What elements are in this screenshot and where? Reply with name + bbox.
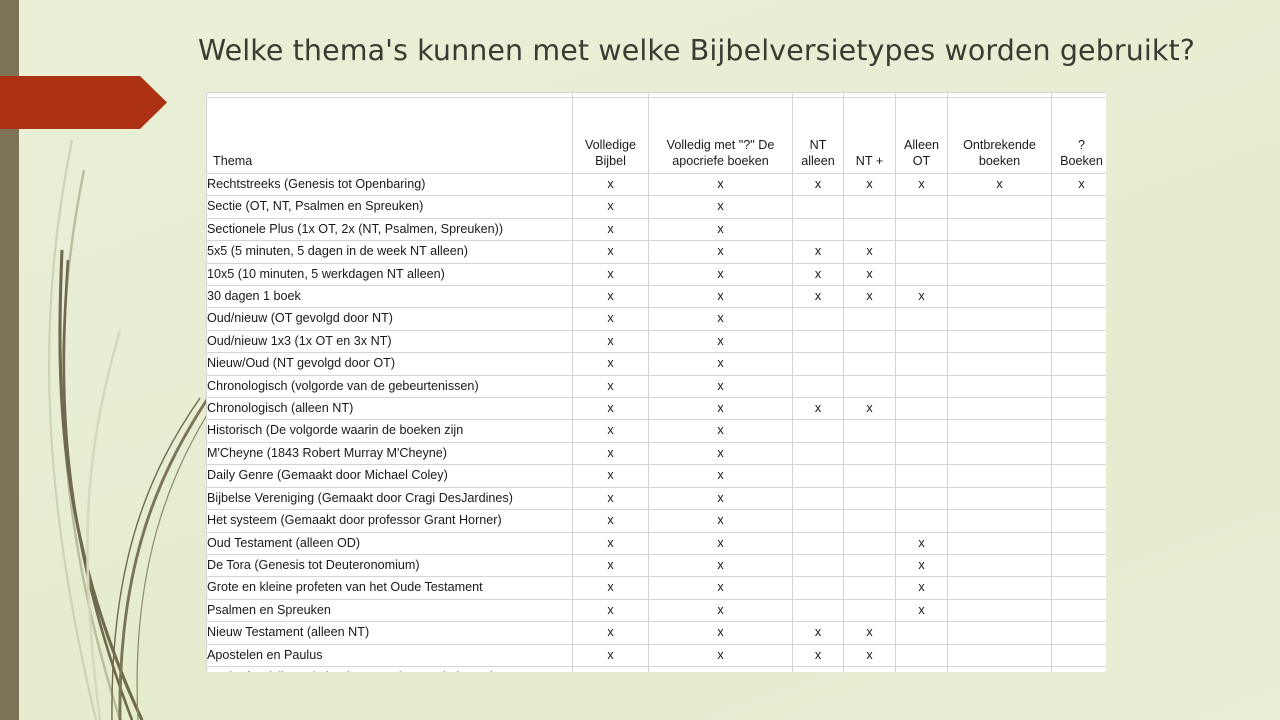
mark-cell-checked[interactable]: x <box>573 554 649 576</box>
mark-cell-checked[interactable]: x <box>793 286 844 308</box>
mark-cell-empty[interactable] <box>948 353 1052 375</box>
table-row[interactable]: Oud Testament (alleen OD)xxx <box>207 532 1107 554</box>
table-header-row: ThemaVolledigeBijbelVolledig met "?" Dea… <box>207 98 1107 174</box>
table-row[interactable]: 5x5 (5 minuten, 5 dagen in de week NT al… <box>207 241 1107 263</box>
mark-cell-empty[interactable] <box>948 263 1052 285</box>
mark-cell-empty[interactable] <box>1052 375 1107 397</box>
mark-cell-checked[interactable]: x <box>649 308 793 330</box>
table-row[interactable]: Daily Genre (Gemaakt door Michael Coley)… <box>207 465 1107 487</box>
mark-cell-checked[interactable]: x <box>573 599 649 621</box>
red-arrow-banner <box>0 76 167 129</box>
mark-cell-empty[interactable] <box>1052 554 1107 576</box>
mark-cell-checked[interactable]: x <box>573 353 649 375</box>
mark-cell-checked[interactable]: x <box>896 532 948 554</box>
mark-cell-empty[interactable] <box>896 622 948 644</box>
mark-cell-checked[interactable]: x <box>793 644 844 666</box>
mark-cell-checked[interactable]: x <box>649 510 793 532</box>
mark-cell-checked[interactable]: x <box>649 644 793 666</box>
table-row[interactable]: Chronologisch (alleen NT)xxxx <box>207 398 1107 420</box>
mark-cell-empty[interactable] <box>844 510 896 532</box>
table-row[interactable]: Apokryfen (alleen de boeken van de tweed… <box>207 666 1107 672</box>
table-row[interactable]: Apostelen en Paulusxxxx <box>207 644 1107 666</box>
mark-cell-empty[interactable] <box>948 599 1052 621</box>
theme-cell[interactable]: Apokryfen (alleen de boeken van de tweed… <box>207 666 573 672</box>
mark-cell-empty[interactable] <box>896 308 948 330</box>
swoosh-line-1 <box>49 140 96 720</box>
mark-cell-checked[interactable]: x <box>573 263 649 285</box>
mark-cell-checked[interactable]: x <box>793 622 844 644</box>
column-header-line: alleen <box>793 154 843 170</box>
mark-cell-empty[interactable] <box>793 554 844 576</box>
arrow-polygon <box>0 76 167 129</box>
column-header-4[interactable]: NT + <box>844 98 896 174</box>
mark-cell-checked[interactable]: x <box>844 174 896 196</box>
mark-cell-checked[interactable]: x <box>573 420 649 442</box>
slide-canvas: Welke thema's kunnen met welke Bijbelver… <box>0 0 1280 720</box>
mark-cell-checked[interactable]: x <box>793 263 844 285</box>
column-header-7[interactable]: ?Boeken <box>1052 98 1107 174</box>
theme-cell[interactable]: De Tora (Genesis tot Deuteronomium) <box>207 554 573 576</box>
mark-cell-checked[interactable]: x <box>649 263 793 285</box>
mark-cell-empty[interactable] <box>1052 532 1107 554</box>
mark-cell-empty[interactable] <box>844 420 896 442</box>
mark-cell-empty[interactable] <box>948 622 1052 644</box>
column-header-line: Bijbel <box>573 154 648 170</box>
mark-cell-checked[interactable]: x <box>573 218 649 240</box>
mark-cell-empty[interactable] <box>793 465 844 487</box>
mark-cell-empty[interactable] <box>1052 263 1107 285</box>
mark-cell-empty[interactable] <box>896 263 948 285</box>
column-header-5[interactable]: AlleenOT <box>896 98 948 174</box>
mark-cell-empty[interactable] <box>1052 442 1107 464</box>
mark-cell-empty[interactable] <box>1052 644 1107 666</box>
mark-cell-empty[interactable] <box>844 308 896 330</box>
table-row[interactable]: M'Cheyne (1843 Robert Murray M'Cheyne)xx <box>207 442 1107 464</box>
mark-cell-checked[interactable]: x <box>649 420 793 442</box>
mark-cell-empty[interactable] <box>1052 308 1107 330</box>
mark-cell-empty[interactable] <box>896 398 948 420</box>
mark-cell-empty[interactable] <box>1052 196 1107 218</box>
column-header-thema[interactable]: Thema <box>207 98 573 174</box>
mark-cell-checked[interactable]: x <box>573 196 649 218</box>
mark-cell-empty[interactable] <box>1052 353 1107 375</box>
mark-cell-checked[interactable]: x <box>649 196 793 218</box>
mark-cell-checked[interactable]: x <box>573 375 649 397</box>
mark-cell-empty[interactable] <box>1052 330 1107 352</box>
mark-cell-empty[interactable] <box>844 375 896 397</box>
mark-cell-checked[interactable]: x <box>649 353 793 375</box>
mark-cell-empty[interactable] <box>793 487 844 509</box>
swoosh-line-6 <box>112 398 200 720</box>
mark-cell-empty[interactable] <box>844 599 896 621</box>
mark-cell-empty[interactable] <box>896 218 948 240</box>
mark-cell-checked[interactable]: x <box>793 174 844 196</box>
mark-cell-empty[interactable] <box>896 510 948 532</box>
column-header-line: Ontbrekende <box>948 138 1051 154</box>
theme-cell[interactable]: Apostelen en Paulus <box>207 644 573 666</box>
mark-cell-empty[interactable] <box>844 666 896 672</box>
column-header-6[interactable]: Ontbrekendeboeken <box>948 98 1052 174</box>
mark-cell-empty[interactable] <box>896 644 948 666</box>
theme-matrix-table-container[interactable]: ThemaVolledigeBijbelVolledig met "?" Dea… <box>206 92 1106 672</box>
mark-cell-empty[interactable] <box>1052 286 1107 308</box>
mark-cell-checked[interactable]: x <box>896 174 948 196</box>
mark-cell-empty[interactable] <box>1052 398 1107 420</box>
table-row[interactable]: 10x5 (10 minuten, 5 werkdagen NT alleen)… <box>207 263 1107 285</box>
column-header-3[interactable]: NTalleen <box>793 98 844 174</box>
mark-cell-checked[interactable]: x <box>844 286 896 308</box>
mark-cell-empty[interactable] <box>948 465 1052 487</box>
table-row[interactable]: Het systeem (Gemaakt door professor Gran… <box>207 510 1107 532</box>
theme-cell[interactable]: Nieuw/Oud (NT gevolgd door OT) <box>207 353 573 375</box>
column-header-line: Volledige <box>573 138 648 154</box>
mark-cell-checked[interactable]: x <box>649 532 793 554</box>
swoosh-line-7 <box>120 392 212 720</box>
mark-cell-empty[interactable] <box>948 308 1052 330</box>
mark-cell-empty[interactable] <box>1052 510 1107 532</box>
table-row[interactable]: Oud/nieuw 1x3 (1x OT en 3x NT)xx <box>207 330 1107 352</box>
theme-cell[interactable]: Rechtstreeks (Genesis tot Openbaring) <box>207 174 573 196</box>
table-row[interactable]: Psalmen en Spreukenxxx <box>207 599 1107 621</box>
mark-cell-empty[interactable] <box>1052 218 1107 240</box>
mark-cell-empty[interactable] <box>948 644 1052 666</box>
theme-cell[interactable]: 5x5 (5 minuten, 5 dagen in de week NT al… <box>207 241 573 263</box>
mark-cell-checked[interactable]: x <box>844 398 896 420</box>
mark-cell-empty[interactable] <box>793 599 844 621</box>
mark-cell-checked[interactable]: x <box>793 241 844 263</box>
page-title: Welke thema's kunnen met welke Bijbelver… <box>198 34 1208 67</box>
mark-cell-empty[interactable] <box>1052 487 1107 509</box>
mark-cell-checked[interactable]: x <box>649 375 793 397</box>
mark-cell-empty[interactable] <box>948 218 1052 240</box>
mark-cell-empty[interactable] <box>948 420 1052 442</box>
mark-cell-checked[interactable]: x <box>649 577 793 599</box>
mark-cell-checked[interactable]: x <box>573 330 649 352</box>
column-header-line: OT <box>896 154 947 170</box>
mark-cell-empty[interactable] <box>896 465 948 487</box>
mark-cell-empty[interactable] <box>948 532 1052 554</box>
mark-cell-empty[interactable] <box>1052 599 1107 621</box>
mark-cell-empty[interactable] <box>1052 420 1107 442</box>
mark-cell-empty[interactable] <box>1052 241 1107 263</box>
theme-cell[interactable]: Chronologisch (alleen NT) <box>207 398 573 420</box>
column-header-line: Alleen <box>896 138 947 154</box>
arrow-shape-icon <box>0 76 167 129</box>
mark-cell-empty[interactable] <box>896 353 948 375</box>
mark-cell-checked[interactable]: x <box>573 442 649 464</box>
mark-cell-empty[interactable] <box>793 196 844 218</box>
theme-cell[interactable]: Historisch (De volgorde waarin de boeken… <box>207 420 573 442</box>
mark-cell-empty[interactable] <box>793 666 844 672</box>
mark-cell-empty[interactable] <box>793 420 844 442</box>
column-header-line: NT <box>793 138 843 154</box>
column-header-line: Volledig met "?" De <box>649 138 792 154</box>
column-header-line: apocriefe boeken <box>649 154 792 170</box>
mark-cell-empty[interactable] <box>844 487 896 509</box>
table-row[interactable]: Sectie (OT, NT, Psalmen en Spreuken)xx <box>207 196 1107 218</box>
mark-cell-empty[interactable] <box>844 554 896 576</box>
mark-cell-empty[interactable] <box>896 196 948 218</box>
theme-matrix-table: ThemaVolledigeBijbelVolledig met "?" Dea… <box>206 92 1106 672</box>
theme-cell[interactable]: Oud Testament (alleen OD) <box>207 532 573 554</box>
theme-cell[interactable]: Sectionele Plus (1x OT, 2x (NT, Psalmen,… <box>207 218 573 240</box>
mark-cell-empty[interactable] <box>948 196 1052 218</box>
table-row[interactable]: Oud/nieuw (OT gevolgd door NT)xx <box>207 308 1107 330</box>
table-row[interactable]: De Tora (Genesis tot Deuteronomium)xxx <box>207 554 1107 576</box>
column-header-line: NT + <box>844 154 895 170</box>
mark-cell-checked[interactable]: x <box>948 174 1052 196</box>
table-row[interactable]: Chronologisch (volgorde van de gebeurten… <box>207 375 1107 397</box>
mark-cell-checked[interactable]: x <box>573 174 649 196</box>
table-row[interactable]: Nieuw Testament (alleen NT)xxxx <box>207 622 1107 644</box>
theme-cell[interactable]: 30 dagen 1 boek <box>207 286 573 308</box>
theme-cell[interactable]: Sectie (OT, NT, Psalmen en Spreuken) <box>207 196 573 218</box>
column-header-2[interactable]: Volledig met "?" Deapocriefe boeken <box>649 98 793 174</box>
table-row[interactable]: Grote en kleine profeten van het Oude Te… <box>207 577 1107 599</box>
mark-cell-empty[interactable] <box>948 398 1052 420</box>
mark-cell-checked[interactable]: x <box>573 398 649 420</box>
mark-cell-empty[interactable] <box>896 666 948 672</box>
mark-cell-checked[interactable]: x <box>649 554 793 576</box>
mark-cell-checked[interactable]: x <box>649 442 793 464</box>
theme-cell[interactable]: Het systeem (Gemaakt door professor Gran… <box>207 510 573 532</box>
mark-cell-checked[interactable]: x <box>1052 174 1107 196</box>
mark-cell-empty[interactable] <box>793 510 844 532</box>
mark-cell-checked[interactable]: x <box>844 644 896 666</box>
mark-cell-checked[interactable]: x <box>649 599 793 621</box>
mark-cell-empty[interactable] <box>948 487 1052 509</box>
mark-cell-empty[interactable] <box>948 442 1052 464</box>
mark-cell-empty[interactable] <box>844 353 896 375</box>
mark-cell-empty[interactable] <box>793 442 844 464</box>
mark-cell-empty[interactable] <box>793 218 844 240</box>
mark-cell-checked[interactable]: x <box>573 487 649 509</box>
mark-cell-checked[interactable]: x <box>649 330 793 352</box>
mark-cell-checked[interactable]: x <box>573 241 649 263</box>
theme-cell[interactable]: Grote en kleine profeten van het Oude Te… <box>207 577 573 599</box>
mark-cell-empty[interactable] <box>793 353 844 375</box>
mark-cell-checked[interactable]: x <box>649 622 793 644</box>
mark-cell-empty[interactable] <box>573 666 649 672</box>
mark-cell-checked[interactable]: x <box>649 174 793 196</box>
mark-cell-empty[interactable] <box>948 375 1052 397</box>
mark-cell-checked[interactable]: x <box>649 241 793 263</box>
table-row[interactable]: Bijbelse Vereniging (Gemaakt door Cragi … <box>207 487 1107 509</box>
theme-cell[interactable]: Oud/nieuw (OT gevolgd door NT) <box>207 308 573 330</box>
mark-cell-empty[interactable] <box>793 532 844 554</box>
mark-cell-checked[interactable]: x <box>649 286 793 308</box>
theme-cell[interactable]: Chronologisch (volgorde van de gebeurten… <box>207 375 573 397</box>
mark-cell-checked[interactable]: x <box>573 308 649 330</box>
mark-cell-checked[interactable]: x <box>649 465 793 487</box>
mark-cell-empty[interactable] <box>896 375 948 397</box>
mark-cell-checked[interactable]: x <box>896 286 948 308</box>
mark-cell-checked[interactable]: x <box>844 241 896 263</box>
mark-cell-empty[interactable] <box>793 577 844 599</box>
mark-cell-empty[interactable] <box>948 510 1052 532</box>
mark-cell-checked[interactable]: x <box>649 666 793 672</box>
mark-cell-empty[interactable] <box>793 375 844 397</box>
table-row[interactable]: Historisch (De volgorde waarin de boeken… <box>207 420 1107 442</box>
mark-cell-checked[interactable]: x <box>573 510 649 532</box>
table-row[interactable]: 30 dagen 1 boekxxxxx <box>207 286 1107 308</box>
mark-cell-empty[interactable] <box>948 330 1052 352</box>
mark-cell-empty[interactable] <box>948 666 1052 672</box>
mark-cell-checked[interactable]: x <box>649 398 793 420</box>
column-header-line: ? <box>1052 138 1106 154</box>
mark-cell-checked[interactable]: x <box>896 577 948 599</box>
mark-cell-empty[interactable] <box>844 532 896 554</box>
mark-cell-empty[interactable] <box>1052 577 1107 599</box>
mark-cell-empty[interactable] <box>896 330 948 352</box>
mark-cell-empty[interactable] <box>844 577 896 599</box>
column-header-line: boeken <box>948 154 1051 170</box>
theme-cell[interactable]: Oud/nieuw 1x3 (1x OT en 3x NT) <box>207 330 573 352</box>
mark-cell-empty[interactable] <box>793 330 844 352</box>
mark-cell-checked[interactable]: x <box>573 286 649 308</box>
mark-cell-checked[interactable]: x <box>573 532 649 554</box>
mark-cell-empty[interactable] <box>844 218 896 240</box>
mark-cell-empty[interactable] <box>948 286 1052 308</box>
mark-cell-checked[interactable]: x <box>896 599 948 621</box>
mark-cell-checked[interactable]: x <box>844 263 896 285</box>
theme-cell[interactable]: M'Cheyne (1843 Robert Murray M'Cheyne) <box>207 442 573 464</box>
mark-cell-empty[interactable] <box>793 308 844 330</box>
mark-cell-empty[interactable] <box>1052 666 1107 672</box>
mark-cell-checked[interactable]: x <box>573 644 649 666</box>
mark-cell-checked[interactable]: x <box>649 218 793 240</box>
theme-cell[interactable]: Bijbelse Vereniging (Gemaakt door Cragi … <box>207 487 573 509</box>
table-row[interactable]: Nieuw/Oud (NT gevolgd door OT)xx <box>207 353 1107 375</box>
theme-cell[interactable]: Nieuw Testament (alleen NT) <box>207 622 573 644</box>
mark-cell-checked[interactable]: x <box>793 398 844 420</box>
theme-cell[interactable]: Daily Genre (Gemaakt door Michael Coley) <box>207 465 573 487</box>
mark-cell-empty[interactable] <box>948 577 1052 599</box>
mark-cell-empty[interactable] <box>844 442 896 464</box>
mark-cell-checked[interactable]: x <box>573 577 649 599</box>
column-header-line: Boeken <box>1052 154 1106 170</box>
mark-cell-empty[interactable] <box>896 420 948 442</box>
mark-cell-checked[interactable]: x <box>844 622 896 644</box>
mark-cell-empty[interactable] <box>948 241 1052 263</box>
mark-cell-empty[interactable] <box>1052 465 1107 487</box>
mark-cell-checked[interactable]: x <box>896 554 948 576</box>
mark-cell-empty[interactable] <box>844 196 896 218</box>
mark-cell-empty[interactable] <box>896 487 948 509</box>
mark-cell-empty[interactable] <box>844 330 896 352</box>
table-row[interactable]: Sectionele Plus (1x OT, 2x (NT, Psalmen,… <box>207 218 1107 240</box>
mark-cell-empty[interactable] <box>896 241 948 263</box>
mark-cell-empty[interactable] <box>844 465 896 487</box>
theme-cell[interactable]: Psalmen en Spreuken <box>207 599 573 621</box>
mark-cell-empty[interactable] <box>948 554 1052 576</box>
theme-cell[interactable]: 10x5 (10 minuten, 5 werkdagen NT alleen) <box>207 263 573 285</box>
mark-cell-empty[interactable] <box>896 442 948 464</box>
mark-cell-checked[interactable]: x <box>573 622 649 644</box>
mark-cell-empty[interactable] <box>1052 622 1107 644</box>
mark-cell-checked[interactable]: x <box>573 465 649 487</box>
table-row[interactable]: Rechtstreeks (Genesis tot Openbaring)xxx… <box>207 174 1107 196</box>
mark-cell-checked[interactable]: x <box>649 487 793 509</box>
column-header-1[interactable]: VolledigeBijbel <box>573 98 649 174</box>
